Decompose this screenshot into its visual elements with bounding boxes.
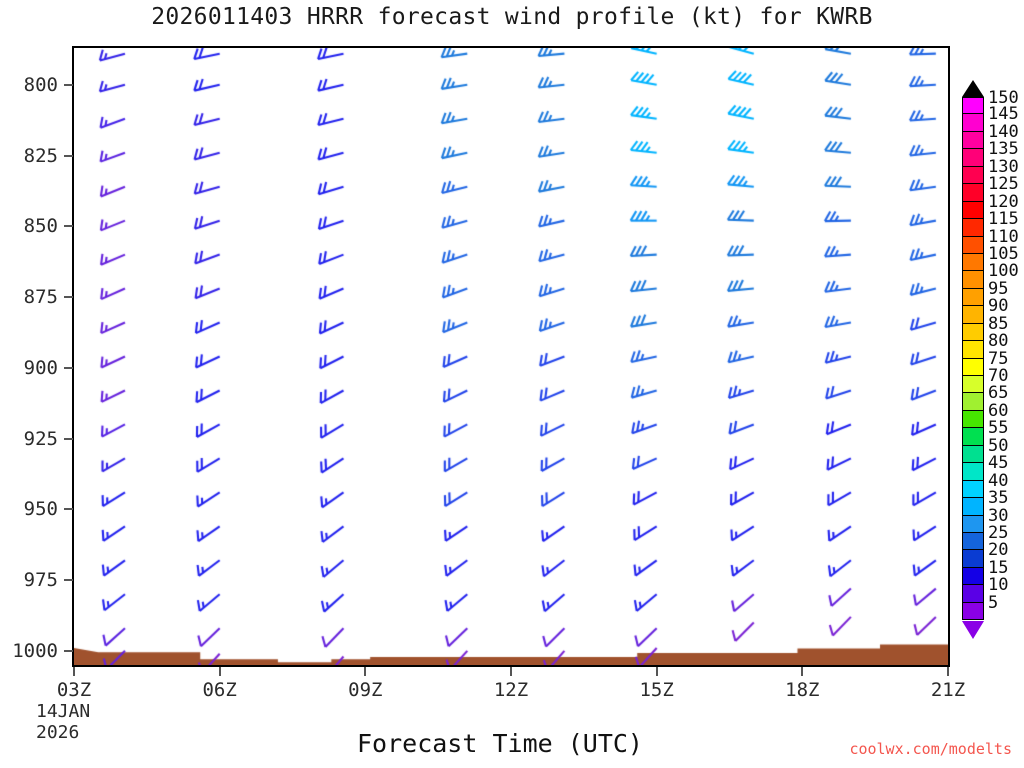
colorbar-cell: 90: [962, 306, 984, 323]
x-axis-tick-label: 12Z: [494, 679, 528, 701]
colorbar-cell: 20: [962, 550, 984, 567]
colorbar-cell: 25: [962, 533, 984, 550]
x-axis-tick-label: 18Z: [785, 679, 819, 701]
colorbar-cell: 40: [962, 481, 984, 498]
colorbar-cell: 75: [962, 359, 984, 376]
colorbar-cell: 125: [962, 184, 984, 201]
y-axis-tick-label: 800: [24, 74, 58, 96]
x-axis-tick-mark: [219, 667, 221, 676]
y-axis-tick-mark: [64, 579, 73, 581]
colorbar-cell: 60: [962, 411, 984, 428]
colorbar-cell: 80: [962, 341, 984, 358]
y-axis-tick-mark: [64, 650, 73, 652]
x-axis-tick-label: 03Z: [57, 679, 91, 701]
y-axis-tick-label: 900: [24, 357, 58, 379]
colorbar-cell: 55: [962, 428, 984, 445]
colorbar-cell: 135: [962, 149, 984, 166]
colorbar-legend: 1501451401351301251201151101051009590858…: [962, 97, 984, 620]
y-axis-tick-mark: [64, 84, 73, 86]
colorbar-cell: 95: [962, 289, 984, 306]
colorbar-cell: 50: [962, 446, 984, 463]
y-axis-tick-mark: [64, 438, 73, 440]
x-axis-tick-mark: [947, 667, 949, 676]
y-axis-tick-mark: [64, 155, 73, 157]
y-axis-tick-label: 1000: [12, 640, 58, 662]
colorbar-tick-label: 5: [988, 593, 998, 613]
x-axis-tick-mark: [801, 667, 803, 676]
x-axis-date-line: 14JAN: [36, 701, 90, 722]
y-axis-tick-label: 850: [24, 215, 58, 237]
y-axis-tick-mark: [64, 296, 73, 298]
y-axis-tick-label: 825: [24, 145, 58, 167]
wind-barb-layer: [74, 48, 948, 665]
colorbar-cell: 100: [962, 271, 984, 288]
colorbar-cell: 5: [962, 603, 984, 620]
y-axis: 8008258508759009259509751000: [0, 0, 58, 768]
colorbar-cell: 150: [962, 97, 984, 114]
colorbar-cell: 35: [962, 498, 984, 515]
colorbar-cell: 85: [962, 324, 984, 341]
y-axis-tick-mark: [64, 225, 73, 227]
colorbar-cell: 110: [962, 237, 984, 254]
y-axis-tick-label: 875: [24, 286, 58, 308]
colorbar-cell: 115: [962, 219, 984, 236]
colorbar-cell: 105: [962, 254, 984, 271]
y-axis-tick-label: 975: [24, 569, 58, 591]
colorbar-cell: 15: [962, 568, 984, 585]
colorbar-cell: 45: [962, 463, 984, 480]
colorbar-cell: 120: [962, 202, 984, 219]
x-axis-tick-mark: [364, 667, 366, 676]
colorbar-cell: 140: [962, 132, 984, 149]
colorbar-cell: 65: [962, 393, 984, 410]
x-axis-tick-mark: [656, 667, 658, 676]
x-axis-tick-label: 09Z: [348, 679, 382, 701]
y-axis-tick-mark: [64, 367, 73, 369]
colorbar-cell: 10: [962, 585, 984, 602]
watermark-link: coolwx.com/modelts: [849, 740, 1012, 758]
y-axis-tick-mark: [64, 508, 73, 510]
colorbar-over-arrow-icon: [962, 80, 984, 97]
colorbar-cell: 30: [962, 516, 984, 533]
x-axis-tick-label: 06Z: [202, 679, 236, 701]
colorbar-under-arrow-icon: [962, 621, 984, 639]
colorbar-cell: 145: [962, 114, 984, 131]
x-axis-tick-mark: [510, 667, 512, 676]
wind-profile-plot-area: [72, 46, 950, 667]
x-axis-tick-mark: [73, 667, 75, 676]
y-axis-tick-label: 950: [24, 498, 58, 520]
colorbar-cell: 130: [962, 167, 984, 184]
colorbar-cell: 70: [962, 376, 984, 393]
page-title: 2026011403 HRRR forecast wind profile (k…: [0, 4, 1024, 30]
x-axis-tick-label: 15Z: [639, 679, 673, 701]
y-axis-tick-label: 925: [24, 428, 58, 450]
x-axis-tick-label: 21Z: [931, 679, 965, 701]
